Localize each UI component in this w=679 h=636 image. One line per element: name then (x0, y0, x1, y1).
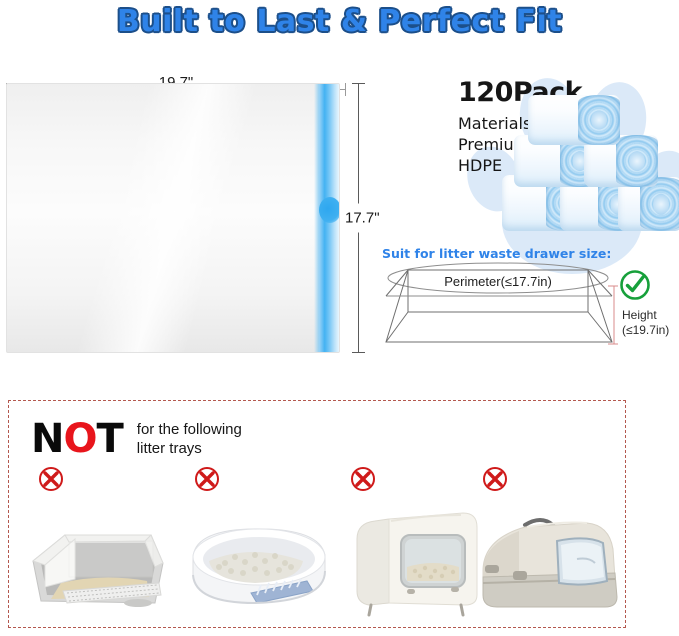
height-limit-line-1: Height (622, 308, 669, 323)
bag-product-panel: 19.7" 17.7" (0, 55, 370, 370)
bag-rolls-stack (502, 93, 679, 243)
not-letter-o: O (63, 416, 96, 462)
x-circle-icon (349, 465, 377, 493)
not-subtitle-line-1: for the following (137, 420, 242, 439)
litter-bag-image (6, 83, 340, 353)
roll-top-1 (528, 95, 620, 145)
oval-basin-tray-image (179, 505, 339, 617)
drawer-fit-title: Suit for litter waste drawer size: (382, 246, 611, 261)
height-tick-top (352, 83, 365, 84)
not-letter-n: N (31, 416, 63, 462)
not-word: NOT (31, 419, 123, 459)
drawer-fit-diagram: Suit for litter waste drawer size: Perim… (380, 246, 679, 361)
bag-highlight-dot (319, 197, 340, 223)
hooded-dome-litter-box-image (467, 505, 627, 617)
page-title: Built to Last & Perfect Fit (117, 4, 562, 39)
incompatible-tray-list (9, 463, 625, 623)
page-title-wrap: Built to Last & Perfect Fit (0, 4, 679, 39)
pack-info-block: 120Pack Materials: Premium HDPE (430, 55, 679, 250)
not-subtitle-line-2: litter trays (137, 439, 242, 458)
infographic-page: Built to Last & Perfect Fit 19.7" 17.7" (0, 0, 679, 636)
tray-item-open-hooded-corner-tray (23, 463, 183, 623)
height-limit-label: Height (≤19.7in) (622, 308, 669, 338)
width-tick-right (345, 83, 346, 96)
x-circle-icon (37, 465, 65, 493)
not-letter-t: T (97, 416, 123, 462)
height-dimension: 17.7" (347, 83, 369, 353)
not-compatible-section: NOT for the following litter trays (8, 400, 626, 628)
not-subtitle: for the following litter trays (137, 420, 242, 458)
perimeter-label-text: Perimeter(≤17.7in) (444, 274, 552, 289)
not-heading: NOT for the following litter trays (31, 419, 242, 459)
height-limit-line-2: (≤19.7in) (622, 323, 669, 338)
roll-face (616, 135, 658, 187)
open-hooded-corner-tray-image (23, 505, 183, 617)
tray-item-oval-basin-tray (179, 463, 339, 623)
drawer-box-wireframe: Perimeter(≤17.7in) (380, 260, 618, 352)
x-circle-icon (193, 465, 221, 493)
roll-face (578, 95, 620, 145)
x-circle-icon (481, 465, 509, 493)
check-circle-icon (618, 268, 652, 302)
height-tick-bottom (352, 352, 365, 353)
height-dimension-label: 17.7" (345, 204, 380, 233)
tray-item-hooded-dome-litter-box (467, 463, 627, 623)
